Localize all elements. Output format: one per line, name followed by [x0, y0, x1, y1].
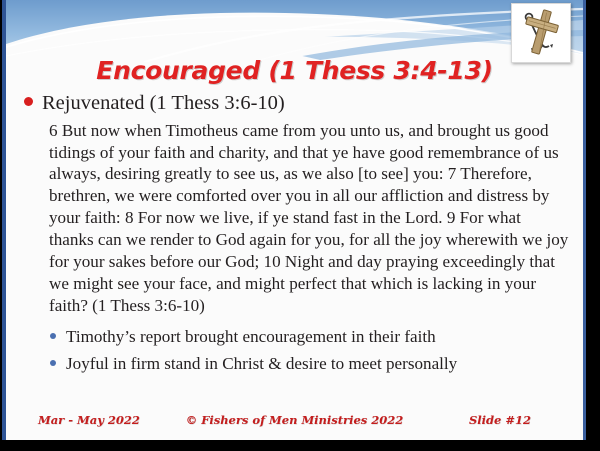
slide-title: Encouraged (1 Thess 3:4-13) [6, 56, 583, 85]
slide-body: Rejuvenated (1 Thess 3:6-10) 6 But now w… [24, 92, 569, 380]
sub-bullet-label: Timothy’s report brought encouragement i… [66, 327, 436, 348]
blue-dot-bullet-icon [50, 360, 56, 366]
blue-dot-bullet-icon [50, 333, 56, 339]
list-item: Joyful in firm stand in Christ & desire … [50, 354, 569, 375]
footer-slide-number: Slide #12 [469, 413, 531, 427]
slide-footer: Mar - May 2022 © Fishers of Men Ministri… [6, 410, 583, 430]
presentation-slide: Encouraged (1 Thess 3:4-13) Rejuvenated … [0, 0, 600, 451]
scripture-passage: 6 But now when Timotheus came from you u… [49, 120, 569, 318]
cross-and-anchor-icon [512, 4, 570, 62]
main-bullet-item: Rejuvenated (1 Thess 3:6-10) [24, 92, 569, 116]
sub-bullet-label: Joyful in firm stand in Christ & desire … [66, 354, 457, 375]
list-item: Timothy’s report brought encouragement i… [50, 327, 569, 348]
header-wave-graphic [6, 0, 583, 62]
ministry-logo [511, 3, 571, 63]
header-banner [6, 0, 583, 62]
slide-canvas: Encouraged (1 Thess 3:4-13) Rejuvenated … [2, 0, 586, 440]
main-bullet-label: Rejuvenated (1 Thess 3:6-10) [42, 92, 285, 116]
red-dot-bullet-icon [24, 97, 33, 106]
sub-bullet-list: Timothy’s report brought encouragement i… [50, 327, 569, 374]
